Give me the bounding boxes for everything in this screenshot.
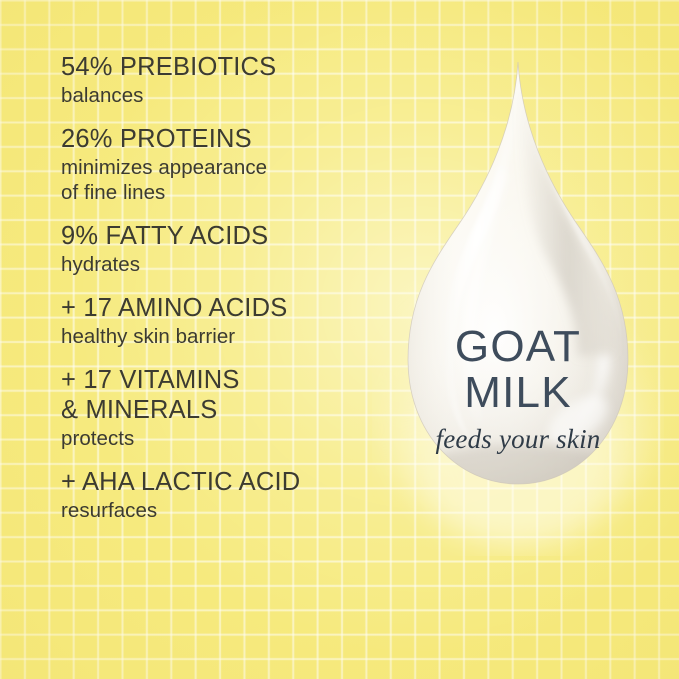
ingredient-benefit: resurfaces: [61, 498, 371, 523]
list-item: 54% PREBIOTICS balances: [61, 52, 371, 108]
list-item: 26% PROTEINS minimizes appearance of fin…: [61, 124, 371, 205]
ingredient-heading: + AHA LACTIC ACID: [61, 467, 371, 497]
ingredient-heading: + 17 VITAMINS & MINERALS: [61, 365, 371, 425]
ingredient-benefit: healthy skin barrier: [61, 324, 371, 349]
ingredient-heading: + 17 AMINO ACIDS: [61, 293, 371, 323]
ingredient-benefit: minimizes appearance of fine lines: [61, 155, 371, 205]
ingredient-benefit: balances: [61, 83, 371, 108]
milk-droplet-icon: [372, 56, 664, 556]
ingredient-benefit: protects: [61, 426, 371, 451]
ingredient-heading: 54% PREBIOTICS: [61, 52, 371, 82]
ingredient-benefit: hydrates: [61, 252, 371, 277]
milk-droplet-graphic: GOAT MILK feeds your skin: [372, 56, 664, 556]
infographic-canvas: 54% PREBIOTICS balances 26% PROTEINS min…: [0, 0, 679, 679]
list-item: + 17 AMINO ACIDS healthy skin barrier: [61, 293, 371, 349]
list-item: + AHA LACTIC ACID resurfaces: [61, 467, 371, 523]
ingredient-heading: 26% PROTEINS: [61, 124, 371, 154]
list-item: 9% FATTY ACIDS hydrates: [61, 221, 371, 277]
ingredient-list: 54% PREBIOTICS balances 26% PROTEINS min…: [61, 52, 371, 523]
list-item: + 17 VITAMINS & MINERALS protects: [61, 365, 371, 451]
ingredient-heading: 9% FATTY ACIDS: [61, 221, 371, 251]
